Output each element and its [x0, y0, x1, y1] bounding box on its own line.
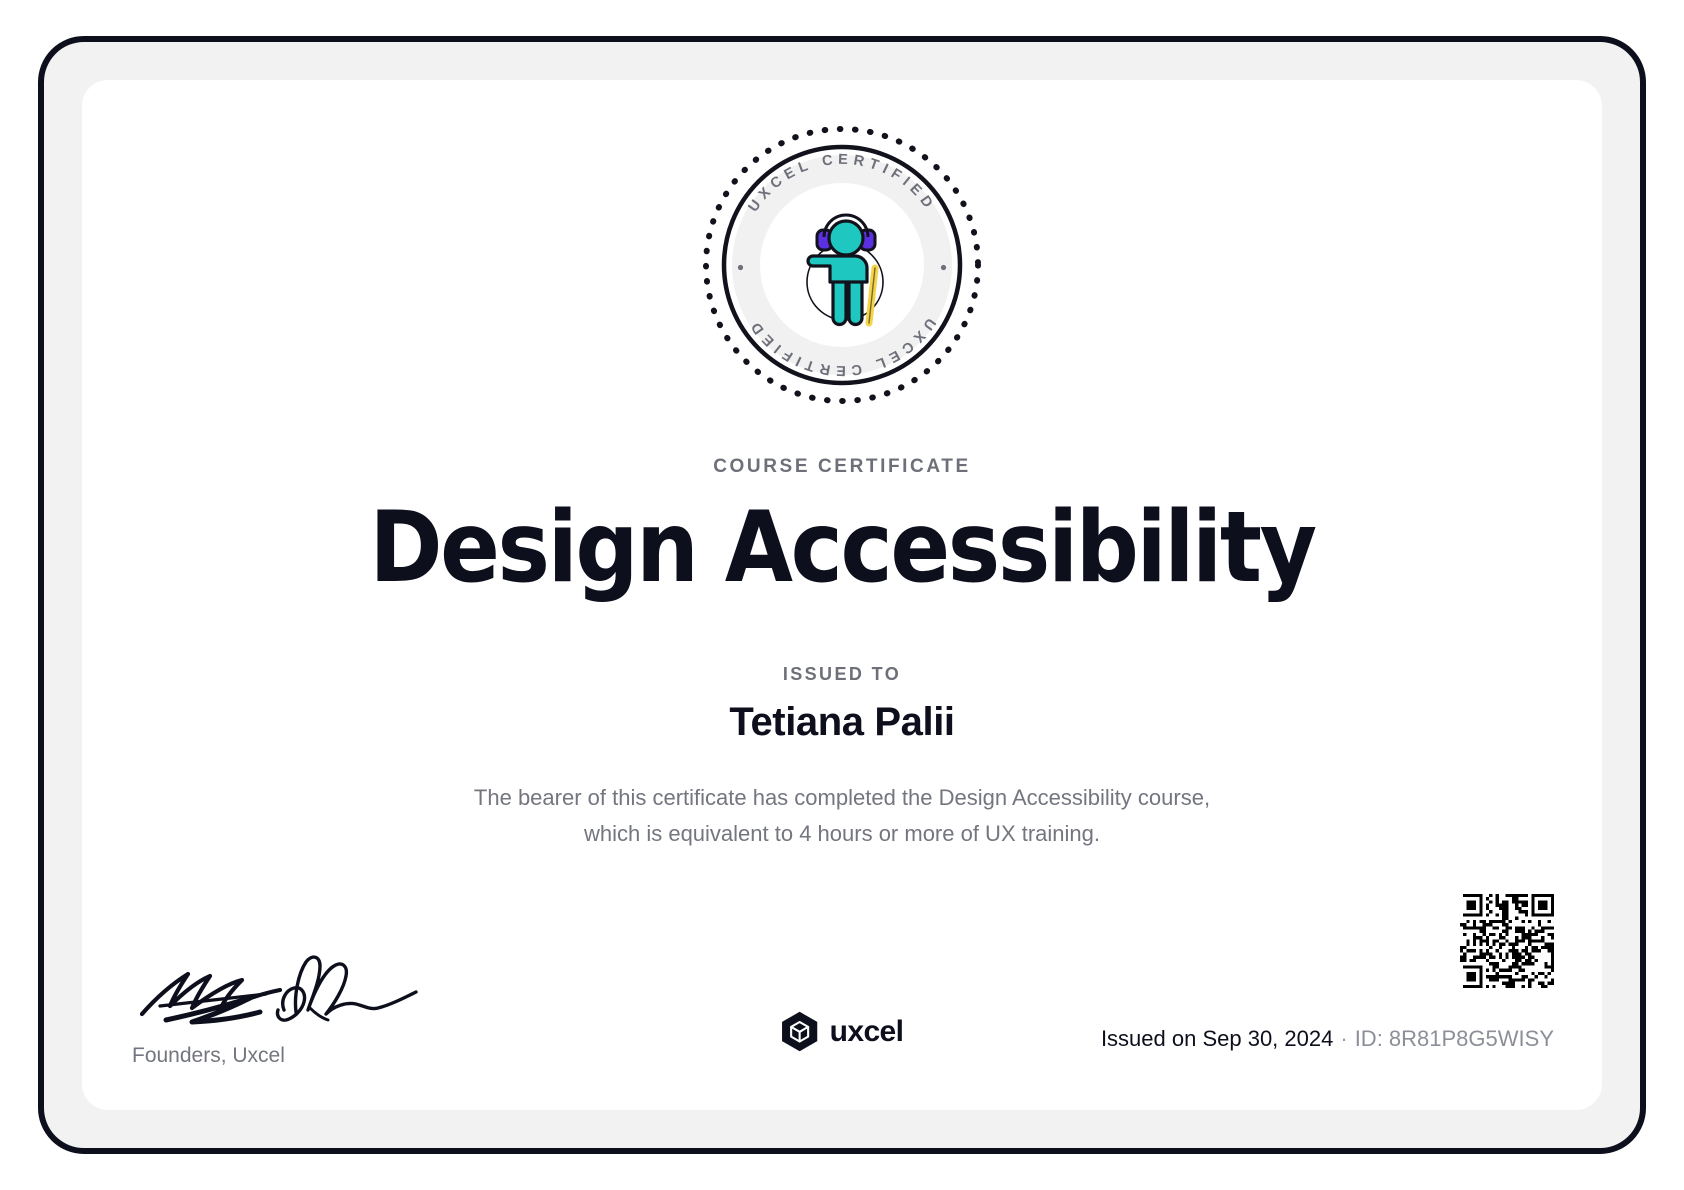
certificate-meta: Issued on Sep 30, 2024·ID: 8R81P8G5WISY [1101, 1026, 1554, 1052]
signature-caption: Founders, Uxcel [132, 1044, 550, 1068]
uxcel-wordmark: uxcel [830, 1017, 904, 1047]
certificate-card: UXCEL CERTIFIED UXCEL CERTIFIED [82, 80, 1602, 1110]
uxcel-brand: uxcel [781, 1011, 904, 1052]
uxcel-logo-icon [781, 1011, 819, 1052]
founders-signature-icon [134, 948, 434, 1028]
certificate-qr-code[interactable] [1460, 894, 1554, 988]
qr-canvas[interactable] [1460, 894, 1554, 988]
certificate-id: ID: 8R81P8G5WISY [1355, 1026, 1554, 1051]
certificate-frame: UXCEL CERTIFIED UXCEL CERTIFIED [38, 36, 1646, 1154]
signature-block: Founders, Uxcel [130, 948, 550, 1068]
issued-date: Issued on Sep 30, 2024 [1101, 1026, 1333, 1051]
seal-graphic: UXCEL CERTIFIED UXCEL CERTIFIED [699, 122, 985, 408]
meta-separator: · [1340, 1026, 1347, 1051]
issued-to-label: ISSUED TO [82, 664, 1602, 685]
certification-seal: UXCEL CERTIFIED UXCEL CERTIFIED [699, 122, 985, 408]
certificate-description: The bearer of this certificate has compl… [82, 780, 1602, 851]
recipient-name: Tetiana Palii [82, 700, 1602, 745]
description-line-1: The bearer of this certificate has compl… [82, 780, 1602, 816]
eyebrow-label: COURSE CERTIFICATE [82, 456, 1602, 478]
description-line-2: which is equivalent to 4 hours or more o… [82, 816, 1602, 852]
course-title: Design Accessibility [82, 495, 1602, 603]
